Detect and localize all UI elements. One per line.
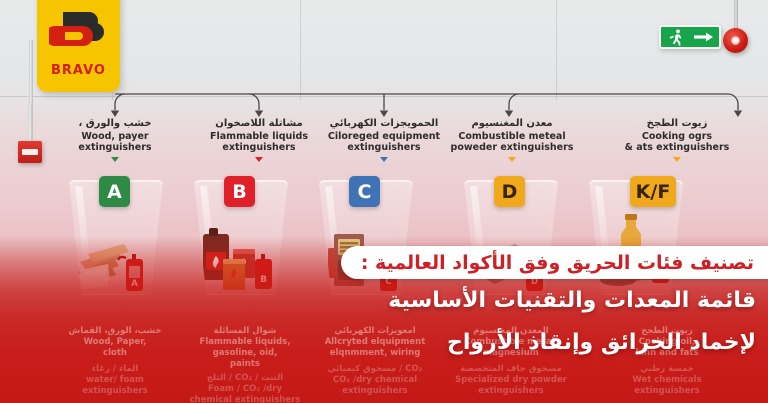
agent-en-1: CO₂ /dry chemical	[300, 375, 450, 386]
agent-ar: CO₂ / مسحوق كيميائي	[300, 364, 450, 375]
fuel-en-3: paints	[170, 359, 320, 370]
description-class-c: امعويزات الكهربائي Allcryted elquipment …	[300, 326, 450, 397]
fuel-ar: امعويزات الكهربائي	[300, 326, 450, 337]
svg-text:B: B	[260, 275, 267, 285]
exit-sign	[659, 25, 721, 49]
category-label-d: معدن المغنسيوم Combustible meteal powede…	[436, 118, 588, 162]
category-title-en-2: poweder extinguishers	[436, 142, 588, 154]
category-title-en-1: Combustible meteal	[436, 131, 588, 143]
category-label-b: مشاتلة اللاصخوان Flammable liquids extin…	[187, 118, 331, 162]
fuel-en-2: gasoline, oid,	[170, 348, 320, 359]
headline-banner-line-1: تصنيف فئات الحريق وفق الأكواد العالمية :	[341, 246, 768, 279]
category-title-en-2: extinguishers	[55, 142, 175, 154]
fire-class-infographic: BRAVO	[0, 0, 768, 403]
running-man-arrow-icon	[661, 27, 719, 47]
agent-ar: خمسة رطبي	[592, 364, 742, 375]
oil-can-icon	[223, 259, 245, 290]
fuel-en-2: cloth	[40, 348, 190, 359]
agent-en-1: Foam / CO₂ /dry	[170, 384, 320, 395]
headline-line-2: قائمة المعدات والتقنيات الأساسية	[388, 288, 756, 313]
agent-ar: الماء / رغاء	[40, 364, 190, 375]
badge-class-d: D	[494, 176, 525, 207]
badge-class-kf: K/F	[630, 176, 676, 207]
agent-en-2: extinguishers	[436, 386, 586, 397]
agent-ar: مسحوق جاف المتخصصة	[436, 364, 586, 375]
fuel-ar: خشب، الورق، القماش	[40, 326, 190, 337]
category-title-ar: زيوت الطجخ	[604, 118, 750, 131]
category-label-kf: زيوت الطجخ Cooking ogrs & ats extinguish…	[604, 118, 750, 162]
agent-en-2: extinguishers	[300, 386, 450, 397]
description-class-b: شوال المسائلة Flammable liquids, gasolin…	[170, 326, 320, 403]
category-title-ar: خشب والورق ،	[55, 118, 175, 131]
badge-class-a: A	[99, 176, 130, 207]
fuel-en-1: Flammable liquids,	[170, 337, 320, 348]
category-title-en-1: Flammable liquids	[187, 131, 331, 143]
category-title-ar: مشاتلة اللاصخوان	[187, 118, 331, 131]
fire-alarm-pull-station	[18, 141, 42, 163]
agent-en-1: Specialized dry powder	[436, 375, 586, 386]
headline-line-3: لإخماد الحرائق وإنقاذ الأرواح	[447, 330, 756, 355]
fuel-ar: شوال المسائلة	[170, 326, 320, 337]
tick-a-icon	[111, 157, 119, 162]
category-title-en-2: & ats extinguishers	[604, 142, 750, 154]
category-title-ar: معدن المغنسيوم	[436, 118, 588, 131]
agent-ar: الثنت / CO₂ / الثلج	[170, 373, 320, 384]
fire-alarm-bell	[723, 28, 748, 53]
contents-wood-and-paper-icon: A	[72, 228, 160, 294]
badge-class-b: B	[224, 176, 255, 207]
agent-en-2: extinguishers	[592, 386, 742, 397]
agent-en-1: Wet chemicals	[592, 375, 742, 386]
tick-c-icon	[380, 157, 388, 162]
agent-en-2: extinguishers	[40, 386, 190, 397]
category-title-en-2: extinguishers	[187, 142, 331, 154]
category-title-en-1: Cooking ogrs	[604, 131, 750, 143]
tick-kf-icon	[673, 157, 681, 162]
extinguisher-a-icon: A	[118, 254, 143, 291]
bravo-logo-icon	[49, 10, 107, 54]
tick-d-icon	[508, 157, 516, 162]
agent-en-1: water/ foam	[40, 375, 190, 386]
fuel-en-1: Allcryted elquipment	[300, 337, 450, 348]
category-title-en-1: Wood, payer	[55, 131, 175, 143]
tick-b-icon	[255, 157, 263, 162]
connector-tree	[0, 70, 768, 120]
fuel-en-1: Wood, Paper,	[40, 337, 190, 348]
agent-en-2: chemical extinguishers	[170, 395, 320, 403]
headline-line-1-text: تصنيف فئات الحريق وفق الأكواد العالمية :	[361, 252, 754, 274]
fuel-en-2: elqnmment, wiring	[300, 348, 450, 359]
badge-class-c: C	[349, 176, 380, 207]
description-class-a: خشب، الورق، القماش Wood, Paper, cloth ال…	[40, 326, 190, 397]
svg-text:A: A	[131, 279, 138, 289]
contents-flammable-liquids-icon: B	[197, 222, 285, 294]
extinguisher-b-icon: B	[255, 254, 272, 289]
alarm-stem	[734, 0, 738, 30]
category-label-a: خشب والورق ، Wood, payer extinguishers	[55, 118, 175, 162]
